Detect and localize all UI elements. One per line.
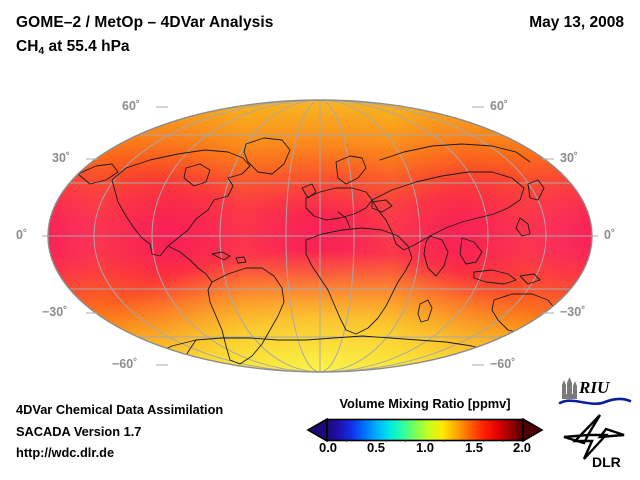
- lat-label-30s-right: −30˚: [560, 305, 585, 319]
- dlr-aircraft-icon: [564, 415, 624, 459]
- colorbar-extend-right: [523, 419, 542, 441]
- lat-label-0-left: 0˚: [16, 228, 27, 242]
- colorbar-tick-2: 1.0: [416, 440, 434, 455]
- dlr-logo[interactable]: DLR: [562, 413, 632, 469]
- page-subtitle: CH4 at 55.4 hPa: [16, 38, 130, 56]
- lat-label-30n-right: 30˚: [560, 151, 578, 165]
- riu-logo[interactable]: RIU: [557, 376, 633, 410]
- analysis-date: May 13, 2008: [529, 14, 624, 32]
- riu-wordmark: RIU: [578, 378, 610, 397]
- lat-label-60s-left: −60˚: [112, 357, 137, 371]
- lat-label-30s-left: −30˚: [42, 305, 67, 319]
- colorbar-tick-1: 0.5: [367, 440, 385, 455]
- lat-label-60s-right: −60˚: [490, 357, 515, 371]
- lat-label-30n-left: 30˚: [52, 151, 70, 165]
- footer-line-version: SACADA Version 1.7: [16, 421, 223, 443]
- footer-line-project: 4DVar Chemical Data Assimilation: [16, 399, 223, 421]
- lat-label-60n-right: 60˚: [490, 99, 508, 113]
- colorbar-gradient: [305, 418, 545, 442]
- footer-credits: 4DVar Chemical Data Assimilation SACADA …: [16, 399, 223, 464]
- lat-label-60n-left: 60˚: [122, 99, 140, 113]
- footer-line-url[interactable]: http://wdc.dlr.de: [16, 442, 223, 464]
- colorbar-extend-left: [308, 419, 327, 441]
- colorbar-tick-3: 1.5: [465, 440, 483, 455]
- colorbar: Volume Mixing Ratio [ppmv]: [300, 396, 550, 472]
- colorbar-title: Volume Mixing Ratio [ppmv]: [300, 396, 550, 411]
- colorbar-tick-4: 2.0: [513, 440, 531, 455]
- world-map-mollweide[interactable]: [0, 88, 640, 384]
- dlr-wordmark: DLR: [592, 454, 621, 469]
- colorbar-tick-0: 0.0: [319, 440, 337, 455]
- page-title: GOME–2 / MetOp – 4DVar Analysis: [16, 14, 274, 32]
- pressure-level-label: at 55.4 hPa: [44, 38, 129, 55]
- species-label: CH: [16, 38, 38, 55]
- map-panel[interactable]: 60˚ 30˚ 0˚ −30˚ −60˚ 60˚ 30˚ 0˚ −30˚ −60…: [0, 88, 640, 384]
- riu-towers-icon: [562, 377, 577, 399]
- colorbar-tick-labels: 0.0 0.5 1.0 1.5 2.0: [300, 440, 550, 460]
- riu-wave-icon: [560, 399, 630, 404]
- species-subscript: 4: [38, 45, 44, 57]
- lat-label-0-right: 0˚: [604, 228, 615, 242]
